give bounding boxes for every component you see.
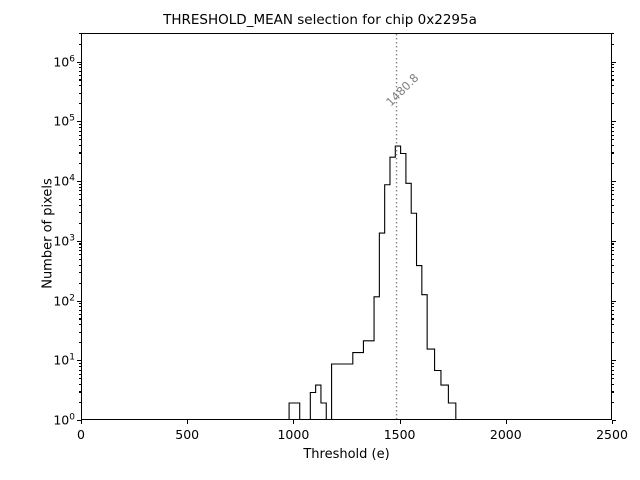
- y-minor-tick-mark: [612, 199, 614, 200]
- histogram-steps: [82, 34, 611, 419]
- y-minor-tick-mark: [79, 79, 81, 80]
- y-minor-tick-mark: [79, 131, 81, 132]
- y-minor-tick-mark: [79, 152, 81, 153]
- y-minor-tick-mark: [612, 250, 614, 251]
- y-minor-tick-mark: [612, 33, 614, 34]
- y-minor-tick-mark: [612, 85, 614, 86]
- y-minor-tick-mark: [612, 370, 614, 371]
- y-minor-tick-mark: [612, 272, 614, 273]
- y-minor-tick-mark: [79, 314, 81, 315]
- y-minor-tick-mark: [79, 374, 81, 375]
- y-tick-mark: [77, 360, 81, 361]
- y-minor-tick-mark: [612, 184, 614, 185]
- y-axis-label: Number of pixels: [41, 104, 56, 364]
- y-minor-tick-mark: [79, 265, 81, 266]
- matplotlib-figure: THRESHOLD_MEAN selection for chip 0x2295…: [0, 0, 640, 480]
- y-minor-tick-mark: [79, 223, 81, 224]
- y-minor-tick-mark: [79, 103, 81, 104]
- y-minor-tick-mark: [79, 378, 81, 379]
- y-minor-tick-mark: [79, 44, 81, 45]
- y-minor-tick-mark: [612, 124, 614, 125]
- y-minor-tick-mark: [612, 64, 614, 65]
- y-minor-tick-mark: [612, 93, 614, 94]
- y-minor-tick-mark: [612, 187, 614, 188]
- y-minor-tick-mark: [79, 184, 81, 185]
- y-minor-tick-mark: [612, 378, 614, 379]
- y-minor-tick-mark: [612, 283, 614, 284]
- y-minor-tick-mark: [612, 324, 614, 325]
- y-minor-tick-mark: [612, 163, 614, 164]
- y-minor-tick-mark: [79, 332, 81, 333]
- y-minor-tick-mark: [612, 67, 614, 68]
- x-tick-mark: [293, 420, 294, 424]
- x-tick-label: 2500: [596, 427, 628, 442]
- y-minor-tick-mark: [79, 199, 81, 200]
- y-minor-tick-mark: [612, 152, 614, 153]
- y-minor-tick-mark: [612, 310, 614, 311]
- y-minor-tick-mark: [79, 247, 81, 248]
- y-minor-tick-mark: [79, 139, 81, 140]
- y-minor-tick-mark: [79, 64, 81, 65]
- y-minor-tick-mark: [79, 85, 81, 86]
- y-minor-tick-mark: [612, 342, 614, 343]
- y-tick-mark: [612, 360, 616, 361]
- y-tick-label: 106: [37, 54, 75, 69]
- y-minor-tick-mark: [612, 145, 614, 146]
- x-tick-mark: [400, 420, 401, 424]
- y-minor-tick-mark: [612, 259, 614, 260]
- y-tick-mark: [77, 181, 81, 182]
- plot-axes: [81, 33, 612, 420]
- y-minor-tick-mark: [79, 127, 81, 128]
- y-minor-tick-mark: [79, 75, 81, 76]
- y-minor-tick-mark: [79, 93, 81, 94]
- y-minor-tick-mark: [612, 212, 614, 213]
- y-tick-mark: [77, 420, 81, 421]
- y-tick-mark: [612, 241, 616, 242]
- y-minor-tick-mark: [612, 190, 614, 191]
- y-tick-mark: [612, 420, 616, 421]
- y-minor-tick-mark: [79, 243, 81, 244]
- y-minor-tick-mark: [79, 71, 81, 72]
- y-minor-tick-mark: [79, 163, 81, 164]
- y-minor-tick-mark: [79, 33, 81, 34]
- y-minor-tick-mark: [612, 374, 614, 375]
- y-minor-tick-mark: [612, 366, 614, 367]
- y-minor-tick-mark: [79, 283, 81, 284]
- y-minor-tick-mark: [79, 384, 81, 385]
- y-minor-tick-mark: [612, 391, 614, 392]
- y-tick-mark: [612, 181, 616, 182]
- x-axis-label: Threshold (e): [81, 447, 612, 462]
- y-minor-tick-mark: [79, 250, 81, 251]
- x-tick-label: 500: [175, 427, 199, 442]
- y-minor-tick-mark: [79, 318, 81, 319]
- y-tick-mark: [77, 62, 81, 63]
- y-minor-tick-mark: [79, 145, 81, 146]
- y-minor-tick-mark: [79, 212, 81, 213]
- y-tick-mark: [612, 301, 616, 302]
- y-minor-tick-mark: [79, 363, 81, 364]
- y-tick-label: 100: [37, 413, 75, 428]
- y-minor-tick-mark: [612, 402, 614, 403]
- y-minor-tick-mark: [79, 342, 81, 343]
- histogram-data-layer: [82, 34, 611, 419]
- y-minor-tick-mark: [79, 370, 81, 371]
- histogram-outline: [225, 146, 501, 419]
- y-minor-tick-mark: [612, 131, 614, 132]
- y-minor-tick-mark: [612, 384, 614, 385]
- y-minor-tick-mark: [612, 139, 614, 140]
- y-tick-mark: [612, 121, 616, 122]
- x-tick-label: 2000: [490, 427, 522, 442]
- x-tick-label: 1500: [384, 427, 416, 442]
- y-minor-tick-mark: [612, 247, 614, 248]
- y-minor-tick-mark: [79, 67, 81, 68]
- y-minor-tick-mark: [79, 391, 81, 392]
- y-minor-tick-mark: [79, 402, 81, 403]
- y-minor-tick-mark: [612, 75, 614, 76]
- y-minor-tick-mark: [79, 124, 81, 125]
- y-minor-tick-mark: [612, 314, 614, 315]
- y-minor-tick-mark: [612, 318, 614, 319]
- y-minor-tick-mark: [79, 254, 81, 255]
- y-minor-tick-mark: [612, 243, 614, 244]
- y-minor-tick-mark: [612, 223, 614, 224]
- y-minor-tick-mark: [79, 310, 81, 311]
- y-minor-tick-mark: [612, 254, 614, 255]
- y-minor-tick-mark: [612, 265, 614, 266]
- y-tick-mark: [77, 301, 81, 302]
- y-minor-tick-mark: [79, 187, 81, 188]
- y-minor-tick-mark: [79, 194, 81, 195]
- y-minor-tick-mark: [79, 259, 81, 260]
- y-minor-tick-mark: [612, 44, 614, 45]
- y-tick-mark: [77, 121, 81, 122]
- y-minor-tick-mark: [79, 303, 81, 304]
- y-minor-tick-mark: [79, 190, 81, 191]
- y-minor-tick-mark: [79, 205, 81, 206]
- y-tick-mark: [77, 241, 81, 242]
- chart-title: THRESHOLD_MEAN selection for chip 0x2295…: [0, 12, 640, 28]
- y-minor-tick-mark: [612, 205, 614, 206]
- x-tick-mark: [506, 420, 507, 424]
- y-minor-tick-mark: [79, 366, 81, 367]
- x-tick-label: 1000: [277, 427, 309, 442]
- y-minor-tick-mark: [612, 103, 614, 104]
- y-minor-tick-mark: [79, 272, 81, 273]
- y-minor-tick-mark: [79, 324, 81, 325]
- y-minor-tick-mark: [79, 135, 81, 136]
- y-minor-tick-mark: [612, 363, 614, 364]
- y-minor-tick-mark: [79, 306, 81, 307]
- y-minor-tick-mark: [612, 306, 614, 307]
- y-minor-tick-mark: [612, 127, 614, 128]
- x-tick-mark: [187, 420, 188, 424]
- y-minor-tick-mark: [612, 79, 614, 80]
- y-minor-tick-mark: [612, 71, 614, 72]
- y-minor-tick-mark: [612, 135, 614, 136]
- y-minor-tick-mark: [612, 303, 614, 304]
- y-tick-mark: [612, 62, 616, 63]
- y-minor-tick-mark: [612, 194, 614, 195]
- x-tick-label: 0: [77, 427, 85, 442]
- y-minor-tick-mark: [612, 332, 614, 333]
- x-tick-mark: [81, 420, 82, 424]
